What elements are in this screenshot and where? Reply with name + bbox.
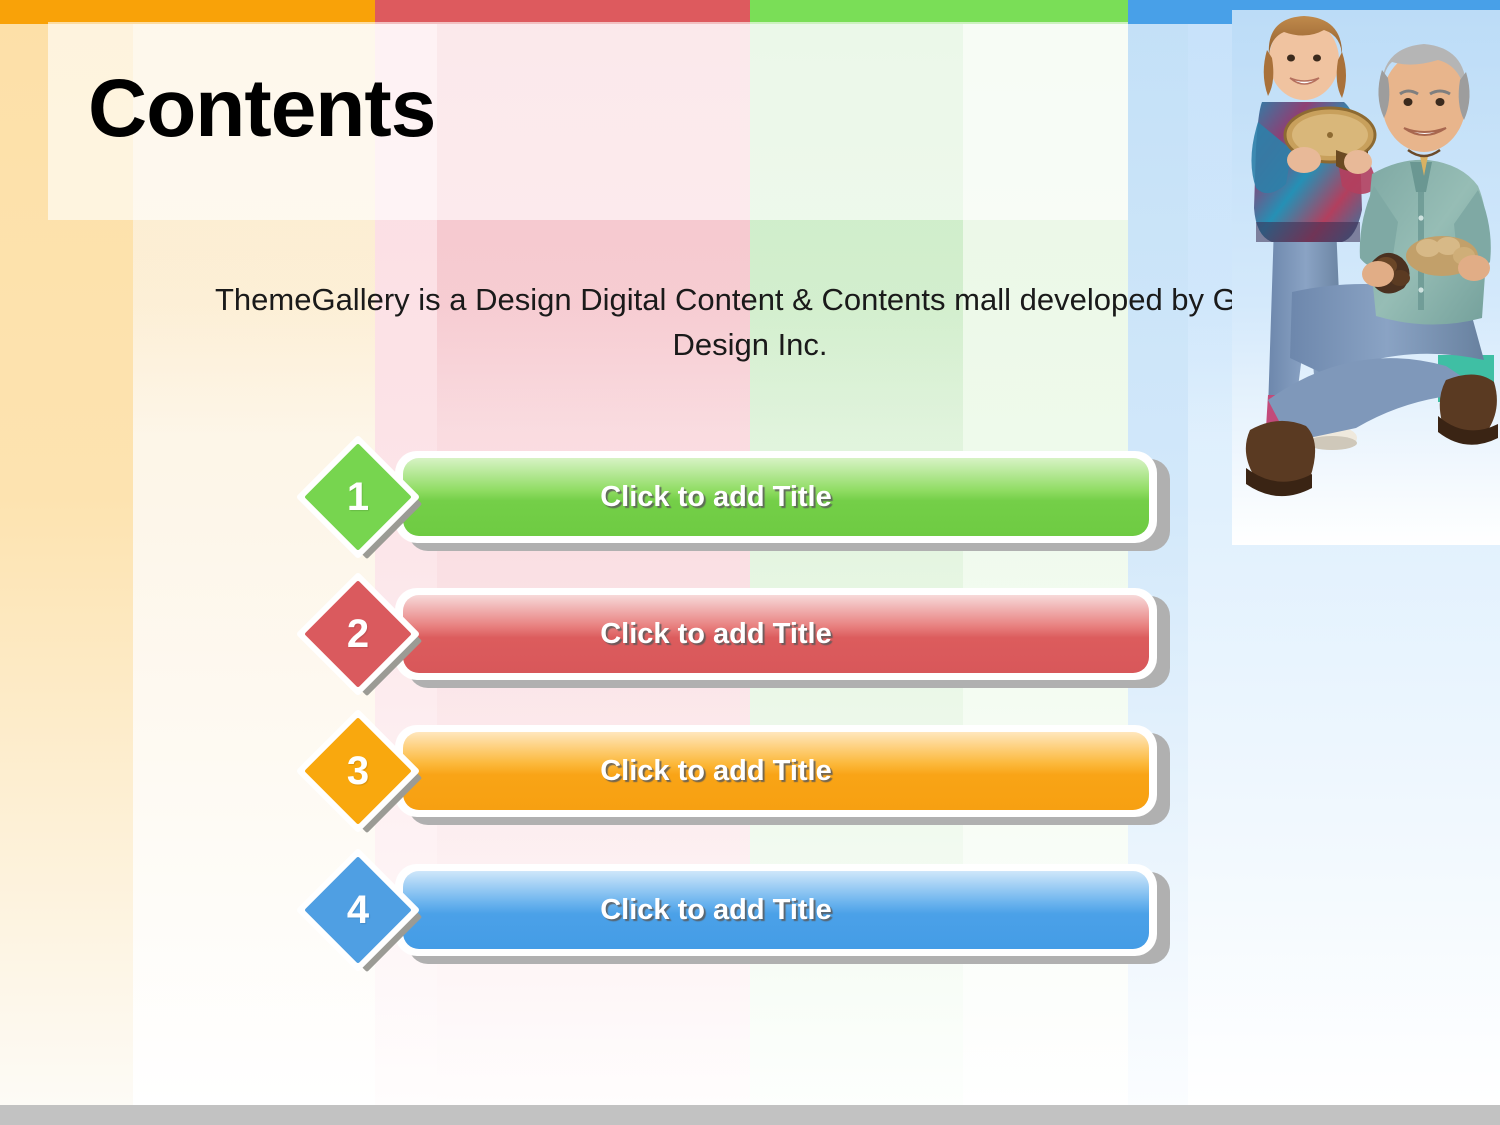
bar-number-badge[interactable]: 3 xyxy=(300,717,420,837)
bar-label: Click to add Title xyxy=(600,481,832,514)
content-bar-4[interactable]: Click to add Title 4 xyxy=(300,856,1170,964)
bar-label: Click to add Title xyxy=(600,755,832,788)
bar-number-badge[interactable]: 2 xyxy=(300,580,420,700)
bar-number: 1 xyxy=(314,453,402,541)
content-bar-1[interactable]: Click to add Title 1 xyxy=(300,443,1170,551)
content-bar-2[interactable]: Click to add Title 2 xyxy=(300,580,1170,688)
bar-fill[interactable]: Click to add Title xyxy=(403,871,1149,949)
bar-label: Click to add Title xyxy=(600,894,832,927)
bar-number: 4 xyxy=(314,866,402,954)
people-photo xyxy=(1232,10,1500,545)
bar-fill[interactable]: Click to add Title xyxy=(403,732,1149,810)
content-bar-3[interactable]: Click to add Title 3 xyxy=(300,717,1170,825)
bar-fill[interactable]: Click to add Title xyxy=(403,458,1149,536)
footer-bar xyxy=(0,1105,1500,1125)
bar-number: 3 xyxy=(314,727,402,815)
bar-number: 2 xyxy=(314,590,402,678)
bar-label: Click to add Title xyxy=(600,618,832,651)
slide-canvas: Contents ThemeGallery is a Design Digita… xyxy=(0,0,1500,1125)
bar-number-badge[interactable]: 1 xyxy=(300,443,420,563)
bar-fill[interactable]: Click to add Title xyxy=(403,595,1149,673)
bar-number-badge[interactable]: 4 xyxy=(300,856,420,976)
